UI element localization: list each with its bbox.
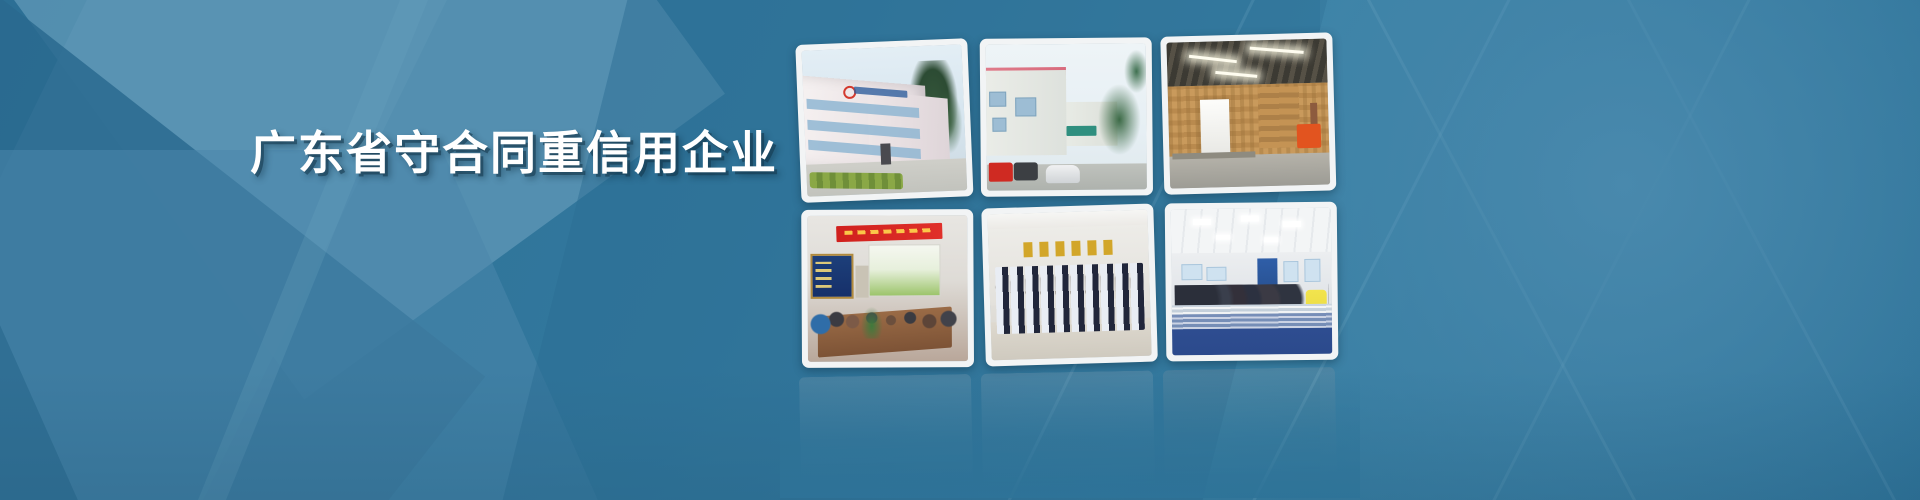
photo-conference-meeting-room[interactable]: 公司会议室培训会议 — [801, 209, 974, 368]
wall-company-name-lettering — [1023, 240, 1113, 257]
photo-factory-office-building[interactable]: 公司办公大楼外观 — [795, 38, 973, 203]
red-slogan-banner — [836, 223, 942, 242]
headline-container: 广东省守合同重信用企业 — [250, 122, 870, 184]
photo-factory-exterior-yard[interactable]: 工厂厂区外景及停车场 — [980, 37, 1153, 196]
red-truck — [988, 163, 1012, 182]
forklift — [1297, 123, 1322, 148]
photo-collage: 公司办公大楼外观 — [797, 33, 1343, 373]
white-sack-stack — [1200, 99, 1230, 155]
reflection-tint-overlay — [780, 368, 1360, 498]
photo-grid: 公司办公大楼外观 — [797, 33, 1343, 373]
photo-staff-group[interactable]: 邦凯工程塑料员工合影 — [981, 204, 1158, 367]
photo-warehouse-raw-materials[interactable]: 原料仓库堆放区及叉车 — [1160, 32, 1336, 194]
company-honor-banner: 广东省守合同重信用企业 — [0, 0, 1920, 500]
banner-headline: 广东省守合同重信用企业 — [250, 130, 778, 176]
photo-open-plan-office[interactable]: 办公区员工工位 — [1165, 202, 1339, 362]
white-sedan — [1046, 165, 1080, 183]
dark-van — [1014, 163, 1038, 181]
